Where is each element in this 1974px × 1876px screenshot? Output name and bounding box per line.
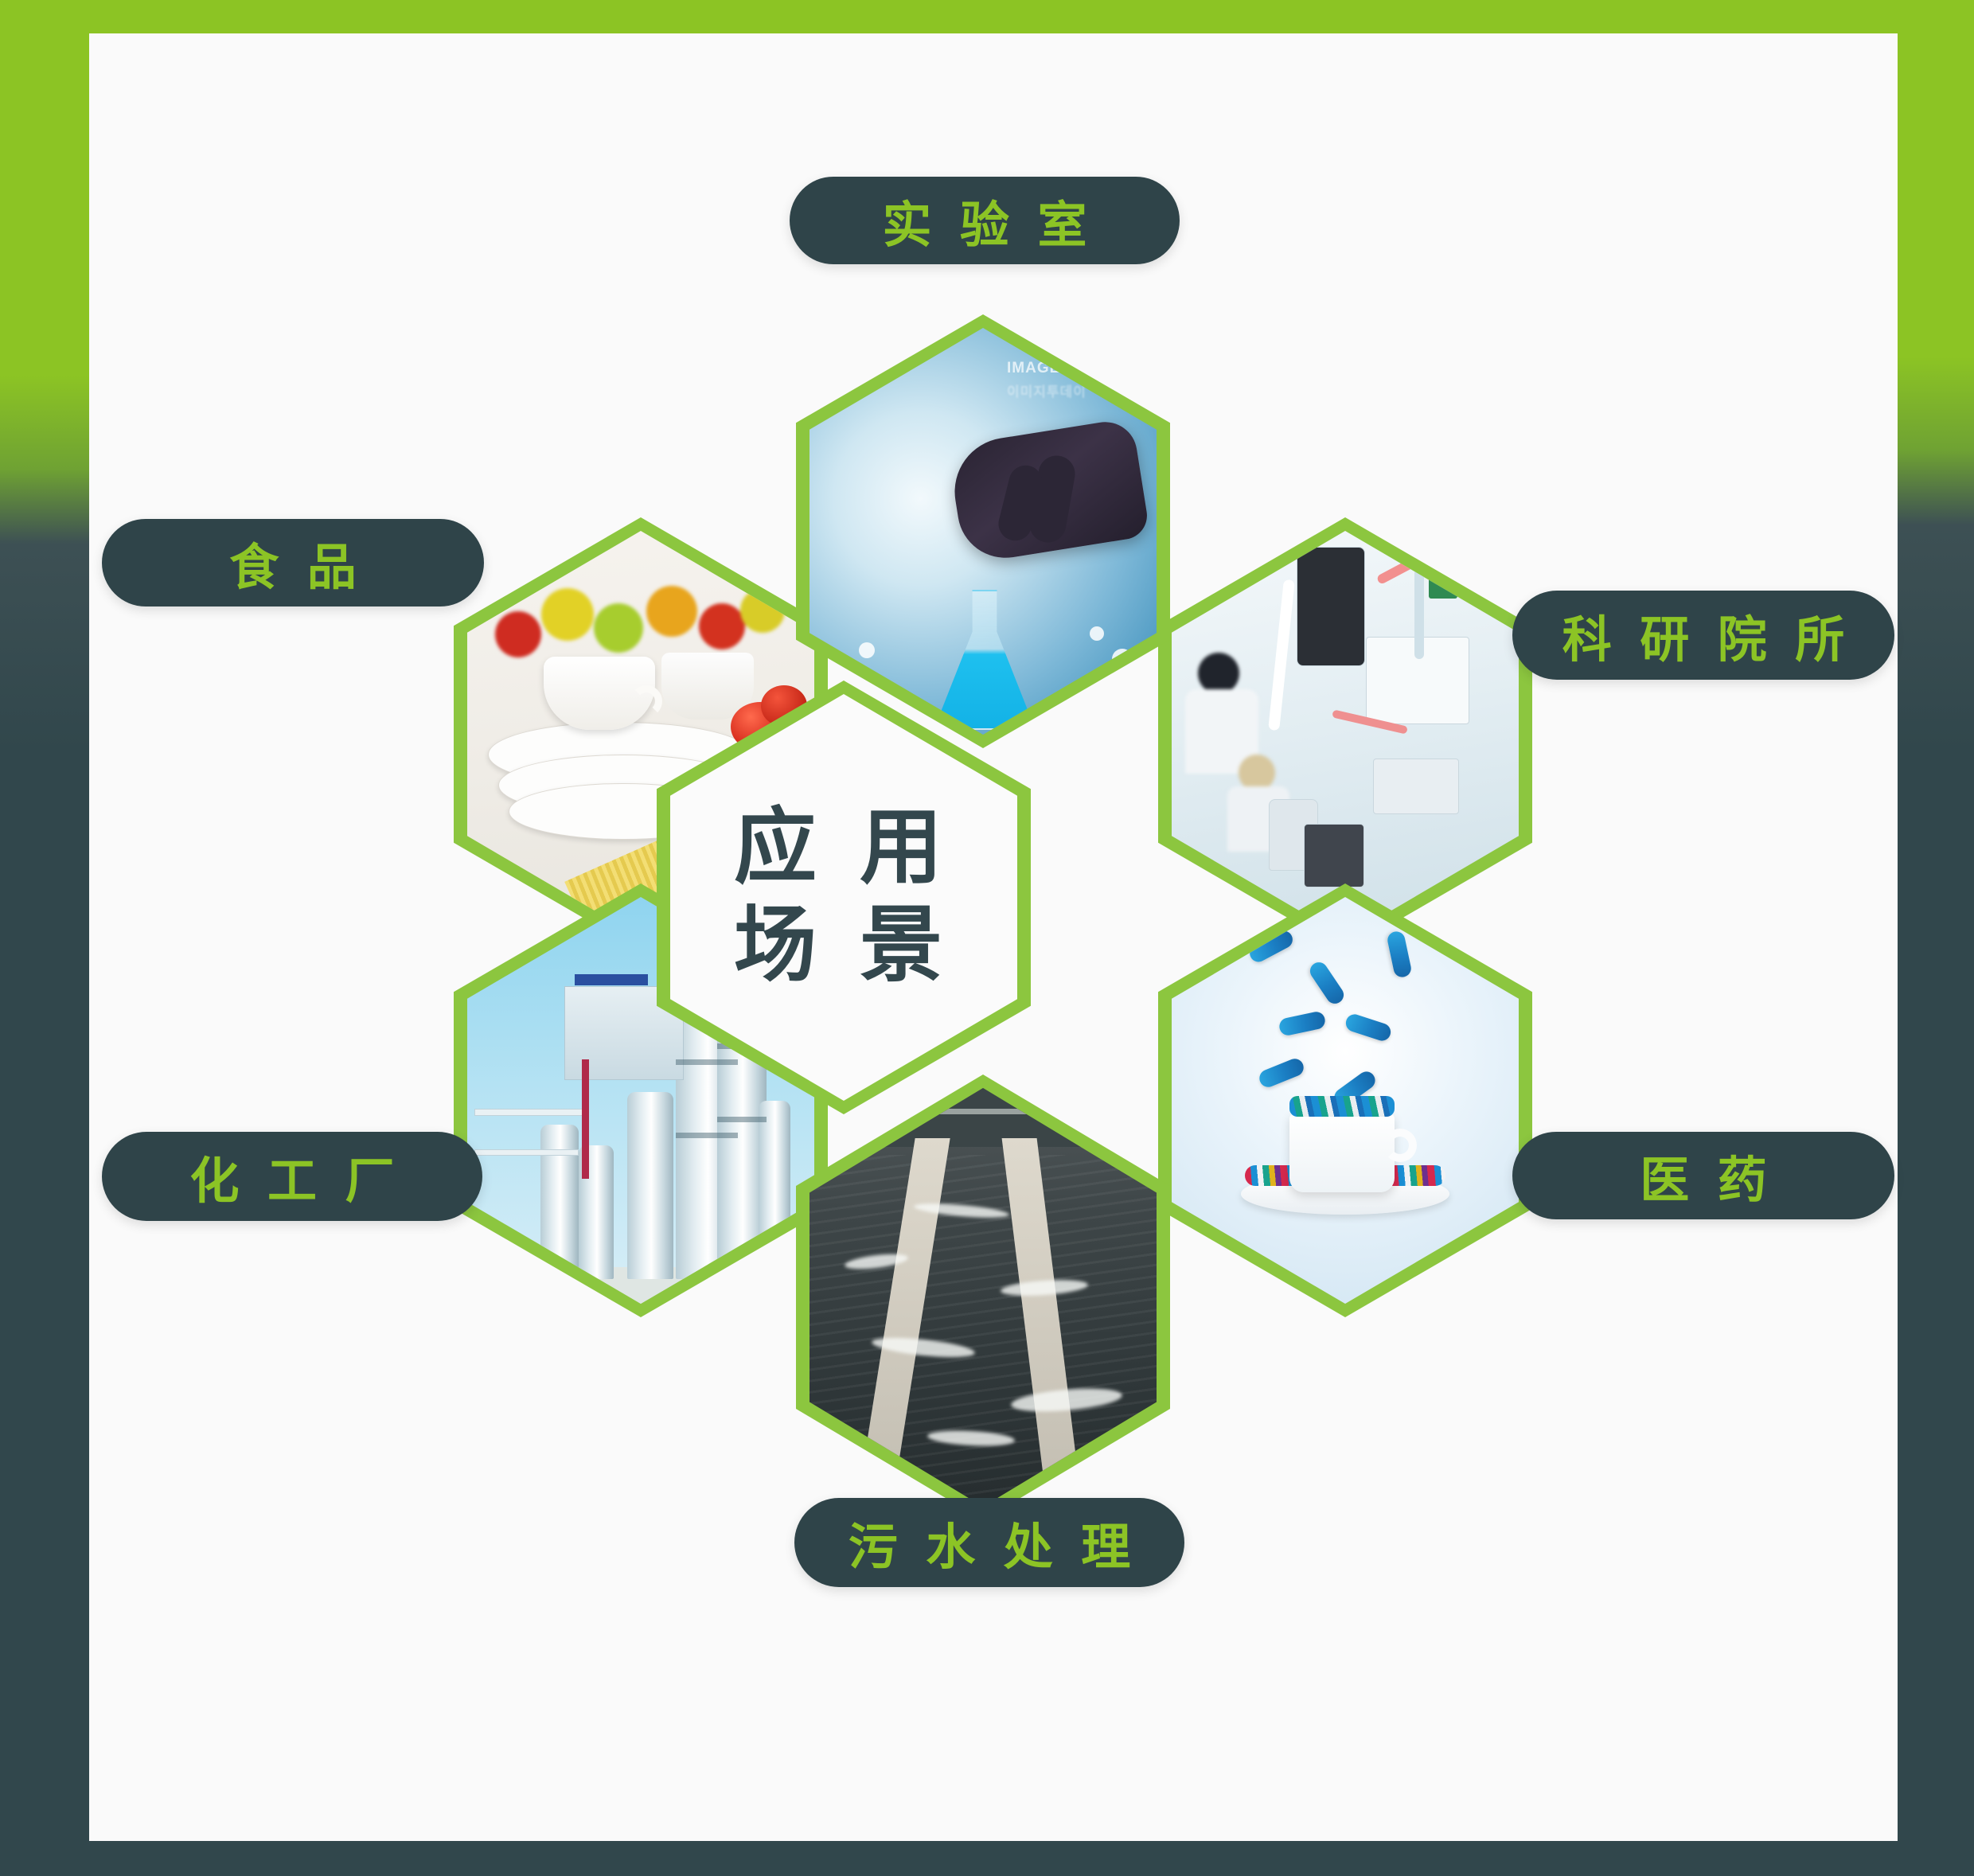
pipe-rack-shape-1 [474, 1109, 586, 1116]
frame-right-band [1898, 0, 1974, 1876]
label-pill-laboratory[interactable]: 实 验 室 [790, 177, 1180, 264]
cup-handle-shape [630, 685, 662, 717]
distillation-tower-3 [627, 1092, 673, 1279]
distillation-tower-4 [540, 1125, 579, 1279]
label-text-research-institute: 科 研 院 所 [1555, 599, 1853, 671]
pipe-rack-shape-2 [474, 1149, 579, 1156]
fruit-shape-1 [495, 611, 541, 657]
page-title-line-2: 场 景 [732, 898, 955, 996]
label-text-wastewater: 污 水 处 理 [841, 1507, 1139, 1578]
capsule-shape-4 [1278, 1010, 1327, 1037]
molecule-bubble-2 [859, 642, 875, 658]
erlenmeyer-flask-icon [934, 590, 1036, 730]
wastewater-photo [809, 1088, 1157, 1507]
tubing-shape-4 [1268, 579, 1295, 731]
fruit-shape-2 [541, 588, 594, 641]
fruit-shape-4 [646, 586, 697, 637]
label-pill-research-institute[interactable]: 科 研 院 所 [1512, 591, 1894, 680]
infographic-canvas: IMAGETODA 이미지투데이 [0, 0, 1974, 1876]
hexagon-center-inner: 应 用 场 景 [670, 694, 1017, 1101]
hexagon-research-institute-inner [1172, 531, 1519, 938]
fruit-shape-5 [699, 603, 745, 649]
page-title-line-1: 应 用 [732, 800, 955, 898]
tower-ring-2 [676, 1059, 738, 1065]
laboratory-photo: IMAGETODA 이미지투데이 [809, 328, 1157, 735]
mug-shape [1289, 1113, 1395, 1192]
mug-handle-shape [1383, 1129, 1417, 1162]
instrument-shape-1 [1297, 547, 1365, 666]
page-title: 应 用 场 景 [732, 800, 955, 995]
instrument-shape-3 [1373, 759, 1459, 814]
tower-ring-3 [676, 1133, 738, 1138]
label-pill-wastewater[interactable]: 污 水 处 理 [794, 1498, 1184, 1587]
tower-ring-5 [717, 1117, 767, 1122]
frame-left-band [0, 0, 89, 1876]
red-pipe-shape [582, 1059, 589, 1179]
scientist-head-1 [1198, 653, 1239, 694]
label-text-chemical-plant: 化 工 厂 [181, 1141, 402, 1212]
frame-top-band [0, 0, 1974, 33]
label-pill-food[interactable]: 食 品 [102, 519, 484, 606]
fruit-shape-3 [594, 603, 643, 653]
label-pill-chemical-plant[interactable]: 化 工 厂 [102, 1132, 482, 1221]
label-pill-pharmaceutical[interactable]: 医 药 [1512, 1132, 1894, 1219]
label-text-food: 食 品 [221, 527, 365, 599]
hexagon-laboratory-inner: IMAGETODA 이미지투데이 [809, 328, 1157, 735]
hexagon-pharmaceutical-inner [1172, 897, 1519, 1304]
capsule-shape-2 [1306, 959, 1347, 1007]
tubing-shape-5 [1414, 564, 1424, 659]
capsule-shape-6 [1257, 1055, 1306, 1089]
mug-fill-pills-shape [1289, 1096, 1395, 1117]
frame-bottom-band [0, 1841, 1974, 1876]
research-institute-photo [1172, 531, 1519, 938]
pharmaceutical-photo [1172, 897, 1519, 1304]
molecule-bubble-4 [1090, 626, 1104, 641]
instrument-shape-5 [1304, 824, 1364, 887]
label-text-pharmaceutical: 医 药 [1632, 1140, 1775, 1211]
label-text-laboratory: 实 验 室 [874, 185, 1094, 256]
capsule-shape-5 [1344, 1012, 1393, 1043]
capsule-shape-3 [1386, 930, 1413, 979]
plant-signage-shape [575, 974, 648, 985]
hexagon-wastewater-inner [809, 1088, 1157, 1507]
